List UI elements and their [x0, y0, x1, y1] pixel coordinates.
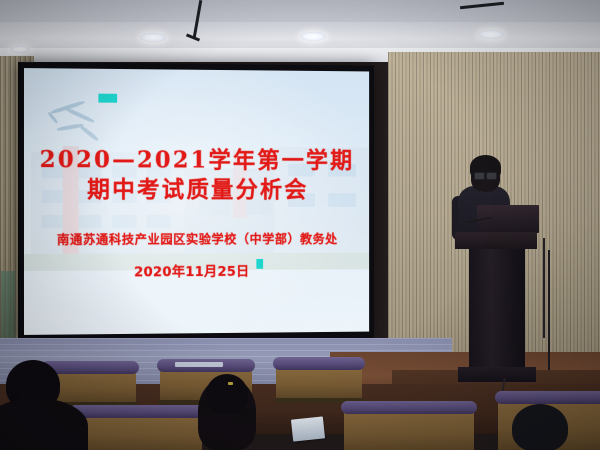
- slide-organization: 南通苏通科技产业园区实验学校（中学部）教务处: [57, 229, 338, 249]
- slide-title-line-1: 2020—2021学年第一学期: [40, 146, 355, 175]
- slide-title-line-2: 期中考试质量分析会: [87, 176, 308, 204]
- slide-date-row: 2020年11月25日: [134, 247, 263, 280]
- downlight-icon: [10, 46, 30, 53]
- seat: [72, 414, 202, 450]
- attendee-head: [512, 404, 568, 450]
- projection-screen: 2020—2021学年第一学期 期中考试质量分析会 南通苏通科技产业园区实验学校…: [18, 62, 374, 342]
- slide-text-group: 2020—2021学年第一学期 期中考试质量分析会 南通苏通科技产业园区实验学校…: [24, 68, 369, 335]
- seat: [344, 410, 474, 450]
- downlight-icon: [478, 30, 504, 39]
- podium-column: [469, 249, 525, 367]
- hair-clip: [228, 382, 233, 385]
- podium-top-ledge: [455, 232, 537, 249]
- slide-surface: 2020—2021学年第一学期 期中考试质量分析会 南通苏通科技产业园区实验学校…: [24, 68, 369, 335]
- attendee-head-top: [206, 374, 248, 414]
- slide-date: 2020年11月25日: [134, 260, 249, 280]
- glasses-icon: [486, 172, 497, 180]
- desk-paper: [175, 362, 223, 367]
- podium-base: [458, 367, 536, 382]
- slide-cursor-block: [256, 259, 263, 269]
- auditorium-photo: 2020—2021学年第一学期 期中考试质量分析会 南通苏通科技产业园区实验学校…: [0, 0, 600, 450]
- downlight-icon: [140, 33, 166, 42]
- glasses-icon: [474, 172, 485, 180]
- notebook: [291, 416, 325, 441]
- seat: [276, 366, 362, 400]
- downlight-icon: [300, 32, 326, 41]
